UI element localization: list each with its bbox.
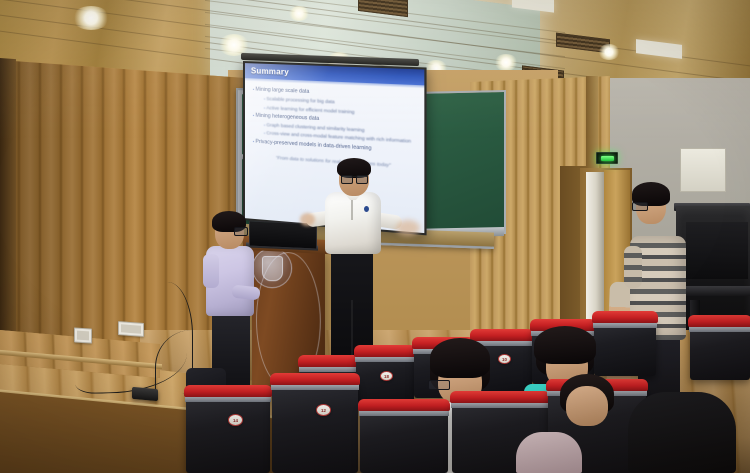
seat-number-badge: 12 xyxy=(316,404,331,416)
audience-shoulder xyxy=(516,432,582,473)
theater-seat[interactable] xyxy=(690,322,750,380)
glasses-icon xyxy=(632,202,648,211)
seat-number-badge: 10 xyxy=(498,354,511,364)
university-seal-emblem xyxy=(252,248,292,288)
glasses-lens-right xyxy=(356,175,368,184)
attendee-sleeve xyxy=(624,246,642,288)
slide-quote: "From data to solutions for real-world q… xyxy=(252,153,417,169)
seat-number-badge: 18 xyxy=(380,371,393,381)
seat-number-badge: 14 xyxy=(228,414,243,426)
ceiling-downlight xyxy=(288,6,310,21)
operator-sleeve xyxy=(203,254,219,288)
presenter-left-hand xyxy=(300,213,315,226)
presenter-shirt-logo xyxy=(364,206,369,212)
audience-hair-top xyxy=(430,338,490,378)
glasses-icon xyxy=(234,227,248,236)
theater-seat[interactable]: 18 xyxy=(356,352,414,404)
slide-body: Mining large scale data Scalable process… xyxy=(245,78,424,173)
presenter-shirt-placket xyxy=(351,198,353,220)
piano-front-panel xyxy=(686,222,748,279)
theater-seat[interactable] xyxy=(594,318,656,376)
glasses-icon xyxy=(428,380,450,390)
exit-sign-glow xyxy=(601,156,614,161)
slide-title-bar: Summary xyxy=(245,63,424,85)
exit-sign xyxy=(596,152,618,164)
slide-title: Summary xyxy=(245,66,289,77)
audience-dark-jacket xyxy=(628,392,736,473)
theater-seat[interactable]: 14 xyxy=(186,392,270,473)
wall-notice-board xyxy=(680,148,726,192)
audience-head xyxy=(566,386,608,426)
presenter-polo-shirt xyxy=(325,192,381,254)
ceiling-downlight xyxy=(494,54,518,71)
presenter-right-hand-motion-blur xyxy=(396,220,420,236)
lecture-hall-photo: Summary Mining large scale data Scalable… xyxy=(0,0,750,473)
theater-seat[interactable] xyxy=(360,406,448,473)
ceiling-downlight xyxy=(598,44,620,60)
theater-seat[interactable]: 12 xyxy=(272,380,358,473)
audience-hair-top xyxy=(534,326,596,364)
ceiling-downlight xyxy=(72,6,110,30)
glasses-lens-left xyxy=(341,175,353,184)
floor-power-box[interactable] xyxy=(132,387,158,401)
operator-arm xyxy=(231,285,260,301)
piano-keyboard-lid xyxy=(680,286,750,296)
